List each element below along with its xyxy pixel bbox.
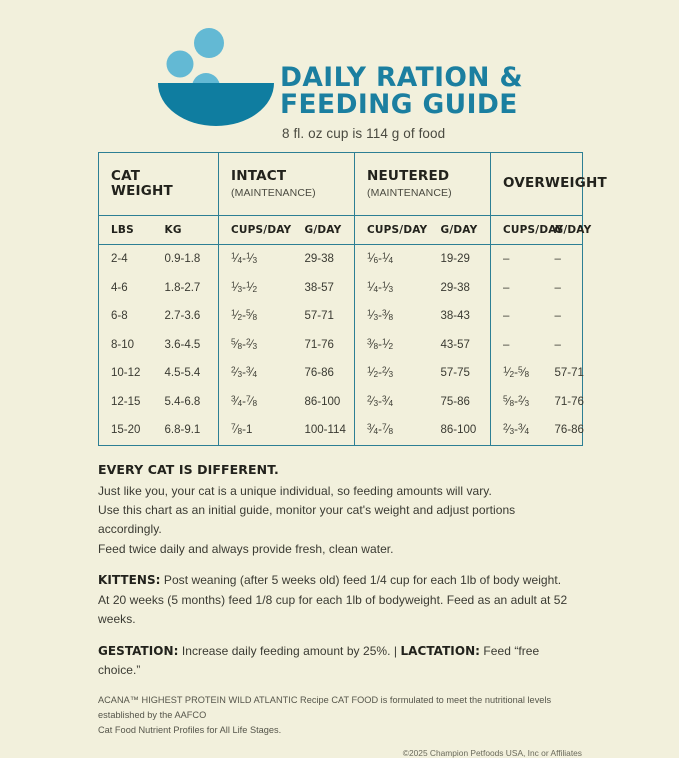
group-subtitle: (MAINTENANCE) (231, 187, 354, 199)
subheader-neutered-cups: CUPS/DAY (355, 216, 429, 245)
cell-overweight-cups: 5⁄8-2⁄3 (491, 388, 543, 417)
cell-neutered-grams: 86-100 (429, 416, 491, 445)
cell-neutered-grams: 43-57 (429, 331, 491, 360)
cell-intact-cups: 1⁄3-1⁄2 (219, 274, 293, 303)
title-block: DAILY RATION & FEEDING GUIDE 8 fl. oz cu… (280, 22, 523, 141)
kittens-line-2: At 20 weeks (5 months) feed 1/8 cup for … (98, 591, 582, 630)
cell-kg: 1.8-2.7 (153, 274, 219, 303)
cell-kg: 5.4-6.8 (153, 388, 219, 417)
fineprint-line-1: ACANA™ HIGHEST PROTEIN WILD ATLANTIC Rec… (98, 693, 582, 723)
cell-neutered-cups: 3⁄4-7⁄8 (355, 416, 429, 445)
cell-lbs: 2-4 (99, 245, 153, 274)
cell-kg: 3.6-4.5 (153, 331, 219, 360)
group-header-overweight: OVERWEIGHT (491, 153, 583, 216)
group-header-intact: INTACT (MAINTENANCE) (219, 153, 355, 216)
cell-overweight-cups: 1⁄2-5⁄8 (491, 359, 543, 388)
subheader-kg: KG (153, 216, 219, 245)
food-bowl-icon (156, 24, 274, 142)
subheader-intact-grams: G/DAY (293, 216, 355, 245)
cell-intact-grams: 100-114 (293, 416, 355, 445)
kittens-line-1: KITTENS: Post weaning (after 5 weeks old… (98, 571, 582, 590)
cell-intact-grams: 71-76 (293, 331, 355, 360)
group-title: OVERWEIGHT (503, 176, 582, 191)
subheader-lbs: LBS (99, 216, 153, 245)
cell-intact-grams: 76-86 (293, 359, 355, 388)
kittens-block: KITTENS: Post weaning (after 5 weeks old… (98, 571, 582, 629)
group-subtitle: (MAINTENANCE) (367, 187, 490, 199)
page-subtitle: 8 fl. oz cup is 114 g of food (282, 126, 523, 141)
notes-section: EVERY CAT IS DIFFERENT. Just like you, y… (98, 462, 582, 681)
cell-neutered-grams: 57-75 (429, 359, 491, 388)
gestation-text: Increase daily feeding amount by 25%. | (179, 644, 401, 658)
table-row: 8-103.6-4.55⁄8-2⁄371-763⁄8-1⁄243-57–– (99, 331, 583, 360)
fineprint-line-2: Cat Food Nutrient Profiles for All Life … (98, 723, 582, 738)
group-title: CAT WEIGHT (111, 169, 218, 199)
group-header-neutered: NEUTERED (MAINTENANCE) (355, 153, 491, 216)
cell-kg: 2.7-3.6 (153, 302, 219, 331)
fineprint: ACANA™ HIGHEST PROTEIN WILD ATLANTIC Rec… (98, 693, 582, 738)
cell-neutered-cups: 1⁄3-3⁄8 (355, 302, 429, 331)
cell-kg: 6.8-9.1 (153, 416, 219, 445)
cell-overweight-grams: – (543, 274, 583, 303)
cell-neutered-cups: 1⁄4-1⁄3 (355, 274, 429, 303)
table-row: 4-61.8-2.71⁄3-1⁄238-571⁄4-1⁄329-38–– (99, 274, 583, 303)
cell-intact-grams: 29-38 (293, 245, 355, 274)
cell-neutered-cups: 2⁄3-3⁄4 (355, 388, 429, 417)
cell-intact-grams: 38-57 (293, 274, 355, 303)
cell-lbs: 6-8 (99, 302, 153, 331)
cell-overweight-grams: – (543, 331, 583, 360)
every-cat-line: Feed twice daily and always provide fres… (98, 540, 582, 559)
header: DAILY RATION & FEEDING GUIDE 8 fl. oz cu… (0, 0, 679, 142)
cell-overweight-grams: 57-71 (543, 359, 583, 388)
cell-kg: 4.5-5.4 (153, 359, 219, 388)
cell-lbs: 15-20 (99, 416, 153, 445)
ration-table-wrap: CAT WEIGHT INTACT (MAINTENANCE) NEUTERED… (98, 152, 581, 446)
group-header-cat-weight: CAT WEIGHT (99, 153, 219, 216)
table-subheader-row: LBS KG CUPS/DAY G/DAY CUPS/DAY G/DAY CUP… (99, 216, 583, 245)
cell-intact-grams: 86-100 (293, 388, 355, 417)
cell-intact-grams: 57-71 (293, 302, 355, 331)
cell-neutered-cups: 1⁄6-1⁄4 (355, 245, 429, 274)
page-title: DAILY RATION & FEEDING GUIDE (280, 64, 523, 119)
cell-lbs: 10-12 (99, 359, 153, 388)
cell-lbs: 8-10 (99, 331, 153, 360)
cell-overweight-cups: 2⁄3-3⁄4 (491, 416, 543, 445)
cell-overweight-cups: – (491, 245, 543, 274)
kittens-label: KITTENS: (98, 573, 161, 587)
cell-overweight-cups: – (491, 274, 543, 303)
cell-overweight-grams: – (543, 302, 583, 331)
cell-intact-cups: 7⁄8-1 (219, 416, 293, 445)
subheader-overweight-cups: CUPS/DAY (491, 216, 543, 245)
cell-neutered-cups: 3⁄8-1⁄2 (355, 331, 429, 360)
table-row: 15-206.8-9.17⁄8-1100-1143⁄4-7⁄886-1002⁄3… (99, 416, 583, 445)
lactation-label: LACTATION: (400, 644, 480, 658)
cell-kg: 0.9-1.8 (153, 245, 219, 274)
table-row: 10-124.5-5.42⁄3-3⁄476-861⁄2-2⁄357-751⁄2-… (99, 359, 583, 388)
subheader-intact-cups: CUPS/DAY (219, 216, 293, 245)
table-row: 6-82.7-3.61⁄2-5⁄857-711⁄3-3⁄838-43–– (99, 302, 583, 331)
cell-overweight-cups: – (491, 302, 543, 331)
ration-table: CAT WEIGHT INTACT (MAINTENANCE) NEUTERED… (98, 152, 583, 446)
table-group-header-row: CAT WEIGHT INTACT (MAINTENANCE) NEUTERED… (99, 153, 583, 216)
kittens-text-1: Post weaning (after 5 weeks old) feed 1/… (161, 573, 562, 587)
cell-neutered-grams: 29-38 (429, 274, 491, 303)
cell-intact-cups: 5⁄8-2⁄3 (219, 331, 293, 360)
gestation-label: GESTATION: (98, 644, 179, 658)
cell-lbs: 12-15 (99, 388, 153, 417)
cell-overweight-grams: 71-76 (543, 388, 583, 417)
cell-intact-cups: 1⁄4-1⁄3 (219, 245, 293, 274)
cell-overweight-grams: 76-86 (543, 416, 583, 445)
cell-neutered-cups: 1⁄2-2⁄3 (355, 359, 429, 388)
every-cat-heading: EVERY CAT IS DIFFERENT. (98, 462, 582, 477)
group-title: INTACT (231, 169, 354, 184)
cell-neutered-grams: 75-86 (429, 388, 491, 417)
cell-neutered-grams: 38-43 (429, 302, 491, 331)
copyright: ©2025 Champion Petfoods USA, Inc or Affi… (98, 748, 582, 758)
table-row: 2-40.9-1.81⁄4-1⁄329-381⁄6-1⁄419-29–– (99, 245, 583, 274)
cell-neutered-grams: 19-29 (429, 245, 491, 274)
cell-lbs: 4-6 (99, 274, 153, 303)
table-row: 12-155.4-6.83⁄4-7⁄886-1002⁄3-3⁄475-865⁄8… (99, 388, 583, 417)
group-title: NEUTERED (367, 169, 490, 184)
gestation-lactation-line: GESTATION: Increase daily feeding amount… (98, 642, 582, 681)
cell-intact-cups: 1⁄2-5⁄8 (219, 302, 293, 331)
daily-ration-feeding-guide-page: DAILY RATION & FEEDING GUIDE 8 fl. oz cu… (0, 0, 679, 679)
subheader-neutered-grams: G/DAY (429, 216, 491, 245)
cell-intact-cups: 2⁄3-3⁄4 (219, 359, 293, 388)
cell-intact-cups: 3⁄4-7⁄8 (219, 388, 293, 417)
every-cat-line: Use this chart as an initial guide, moni… (98, 501, 582, 540)
every-cat-line: Just like you, your cat is a unique indi… (98, 482, 582, 501)
cell-overweight-cups: – (491, 331, 543, 360)
gestation-lactation-block: GESTATION: Increase daily feeding amount… (98, 642, 582, 681)
cell-overweight-grams: – (543, 245, 583, 274)
